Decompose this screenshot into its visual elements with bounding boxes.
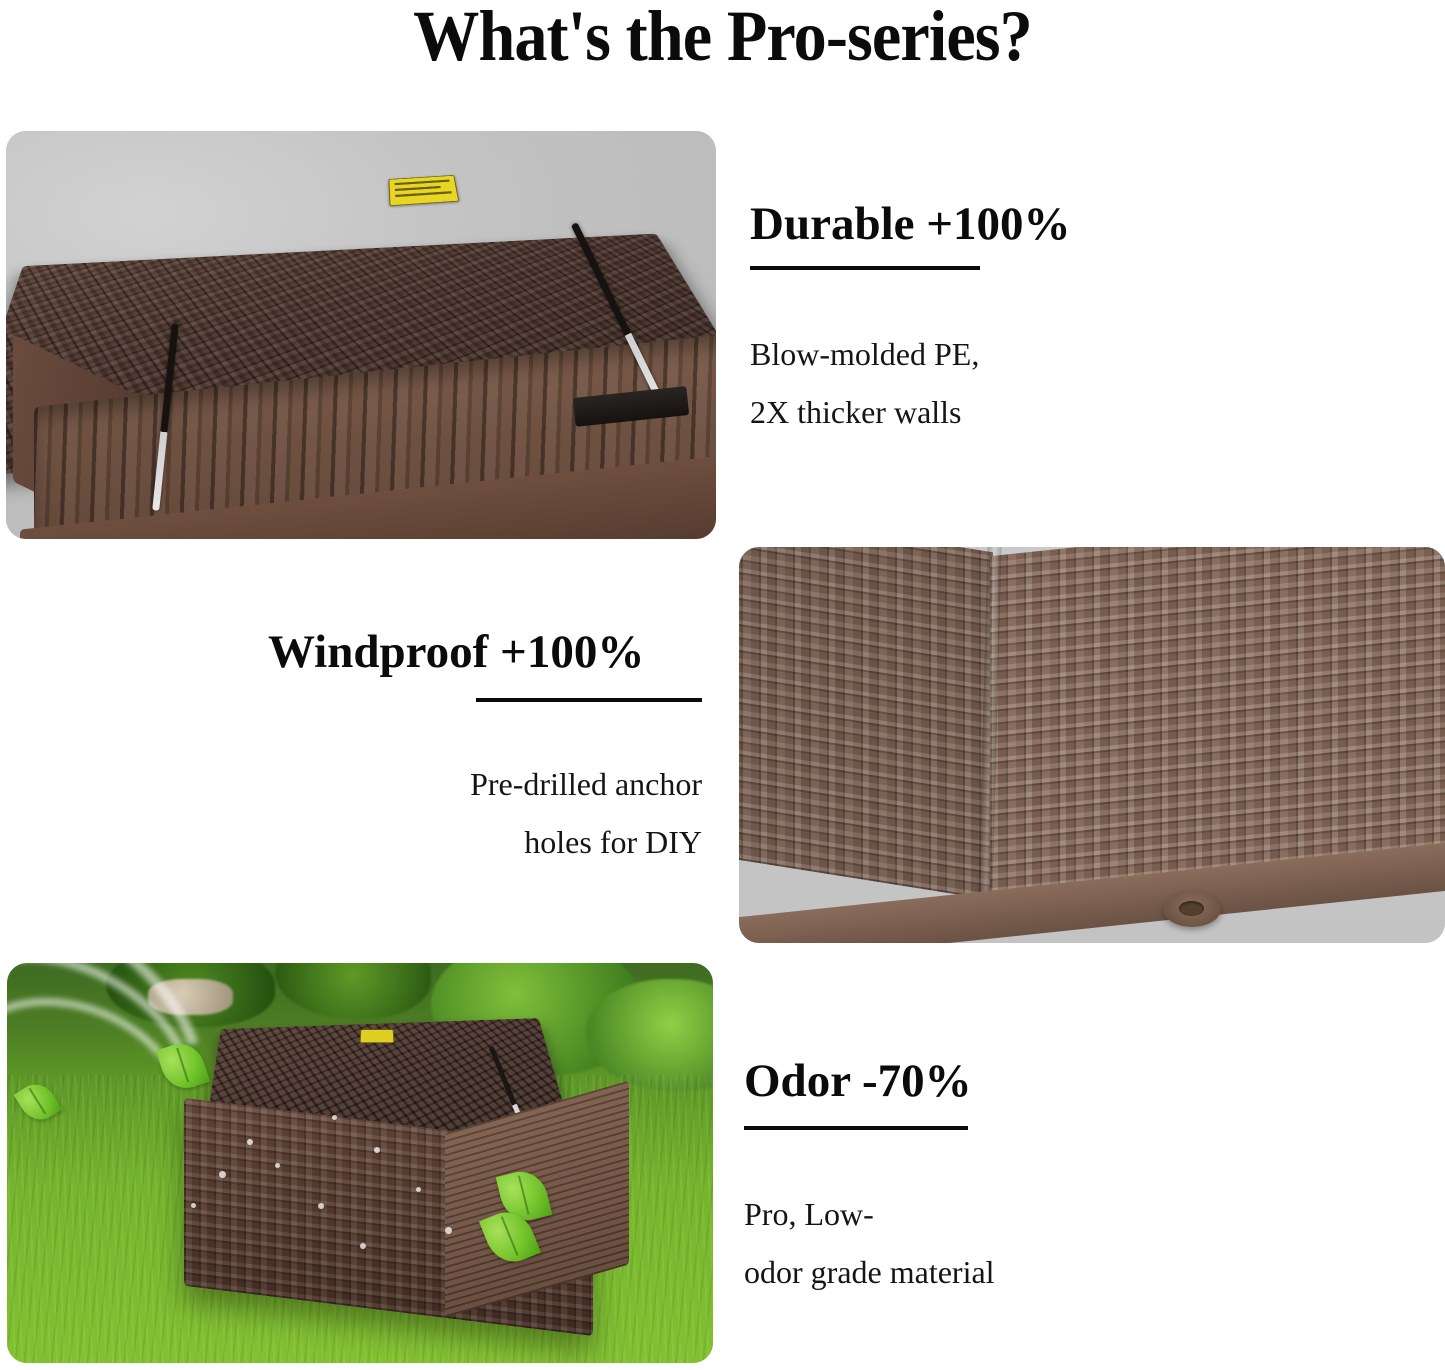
heading-underline-odor [744,1126,968,1130]
feature-heading-durable: Durable +100% [750,196,1071,252]
feature-body-line: odor grade material [744,1243,995,1301]
odor-particle [191,1203,196,1208]
feature-heading-windproof: Windproof +100% [268,624,644,680]
odor-particle [332,1115,337,1120]
page-title: What's the Pro-series? [58,0,1387,78]
feature-image-odor [7,963,713,1363]
feature-body-line: Pro, Low- [744,1185,995,1243]
feature-body-line: 2X thicker walls [750,383,979,441]
feature-body-line: holes for DIY [302,813,702,871]
feature-body-odor: Pro, Low- odor grade material [744,1185,995,1301]
feature-body-durable: Blow-molded PE, 2X thicker walls [750,325,979,441]
warning-label-sticker [389,175,460,206]
feature-image-durable [6,131,716,539]
odor-particle [219,1171,226,1178]
box-face-left [739,547,993,901]
infographic-page: What's the Pro-series? Durable +100% Blo… [0,0,1445,1370]
warning-label-sticker [360,1029,395,1043]
feature-body-line: Pre-drilled anchor [302,755,702,813]
odor-particle [318,1203,324,1209]
odor-particle [247,1139,253,1145]
odor-particle [445,1227,452,1234]
odor-particle [360,1243,366,1249]
feature-body-windproof: Pre-drilled anchor holes for DIY [302,755,702,871]
feature-body-line: Blow-molded PE, [750,325,979,383]
feature-heading-odor: Odor -70% [744,1053,972,1109]
heading-underline-windproof [476,698,702,702]
feature-image-windproof [739,547,1445,943]
anchor-hole-foot [1163,891,1221,927]
heading-underline-durable [750,266,980,270]
